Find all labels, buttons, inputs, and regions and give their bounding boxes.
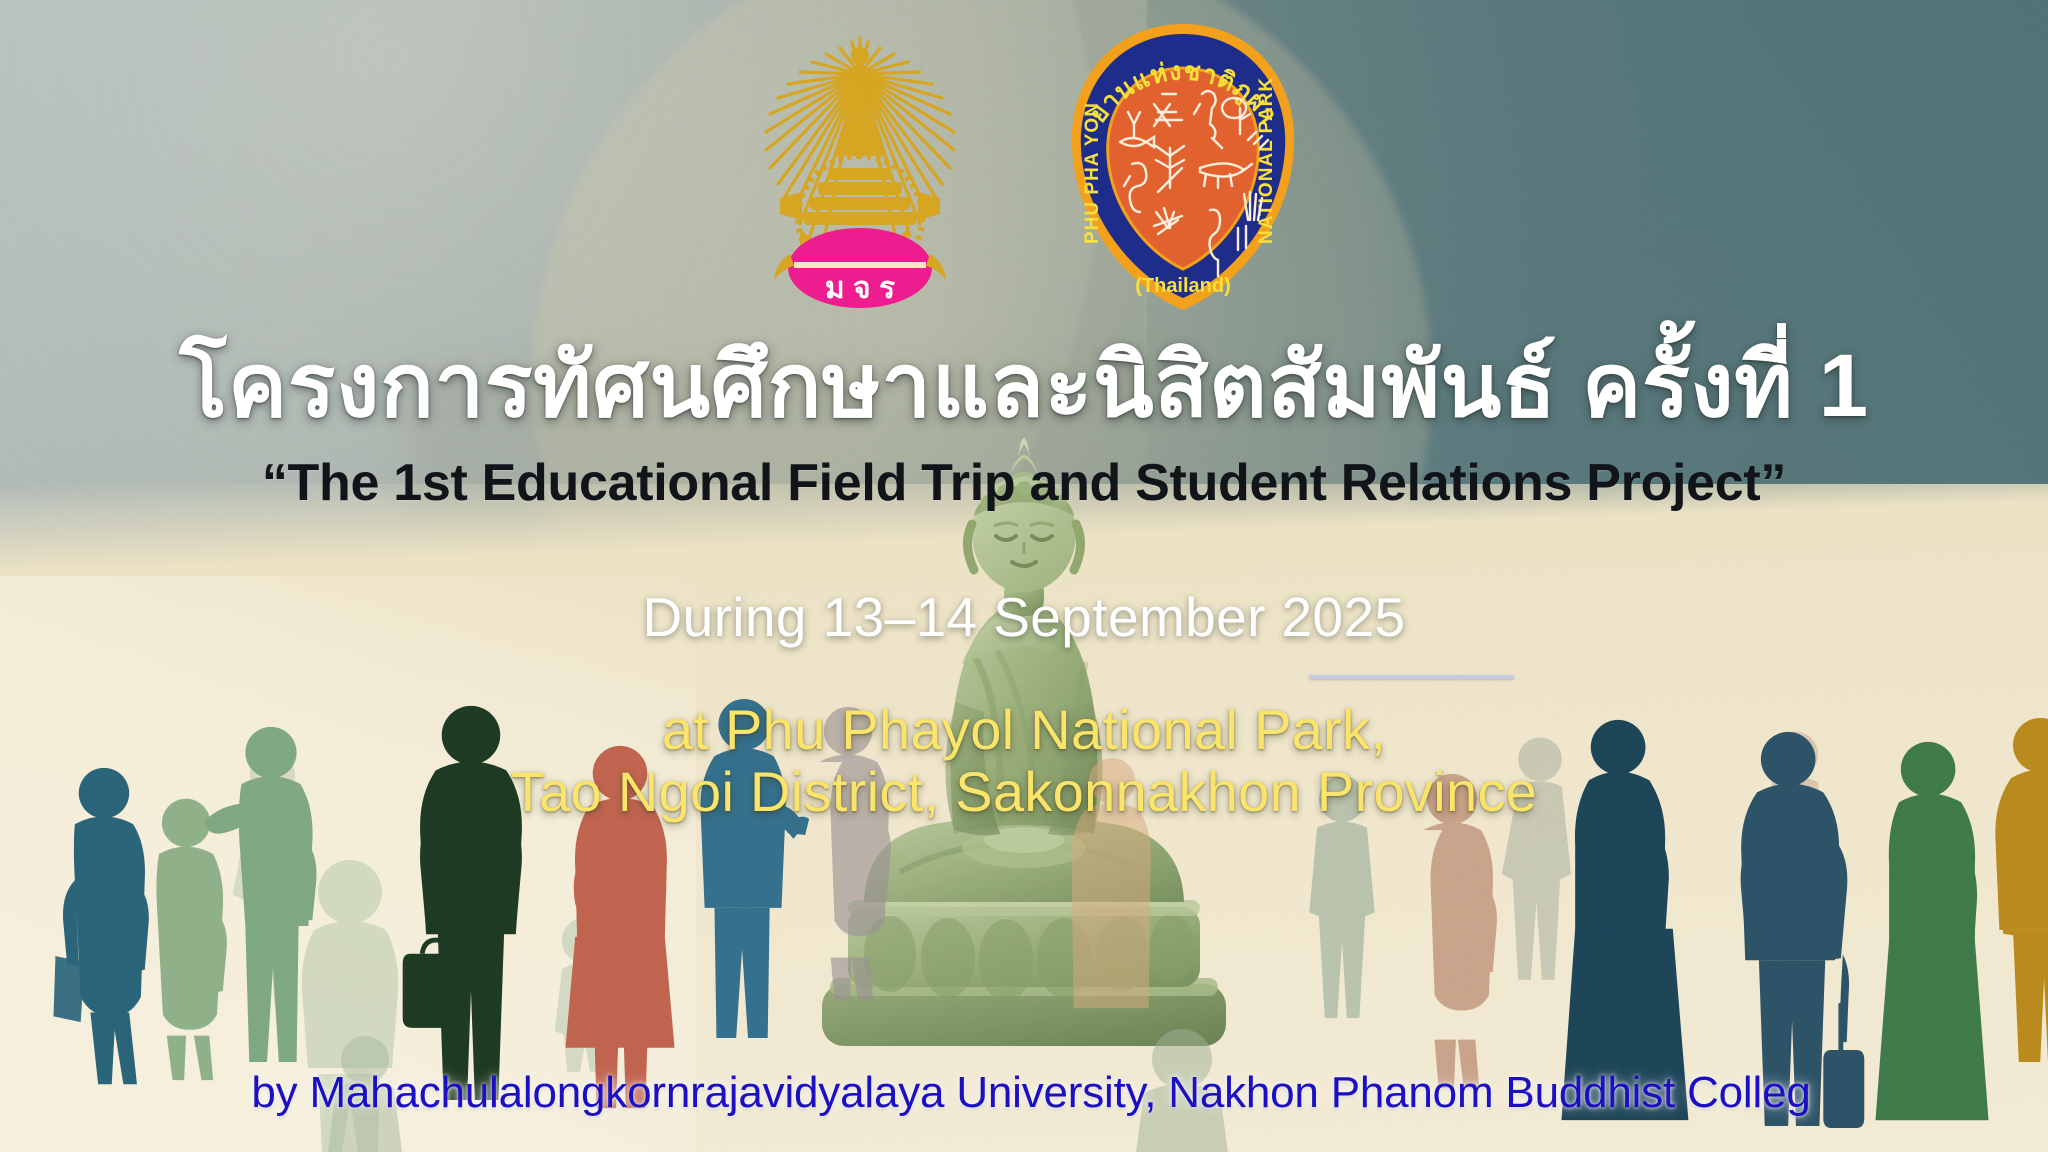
phu-pha-yon-national-park-logo-icon: อุทยานแห่งชาติภูผายล PHU PHA YON NATIONA… (1058, 16, 1308, 321)
logo-row: ม จ ร อุท (740, 16, 1308, 321)
mcu-emblem-icon: ม จ ร (740, 16, 980, 316)
event-poster: ม จ ร อุท (0, 0, 2048, 1152)
mcu-monogram-label: ม จ ร (825, 272, 895, 305)
park-left-label: PHU PHA YON (1082, 102, 1103, 244)
park-bottom-label: (Thailand) (1135, 275, 1231, 297)
